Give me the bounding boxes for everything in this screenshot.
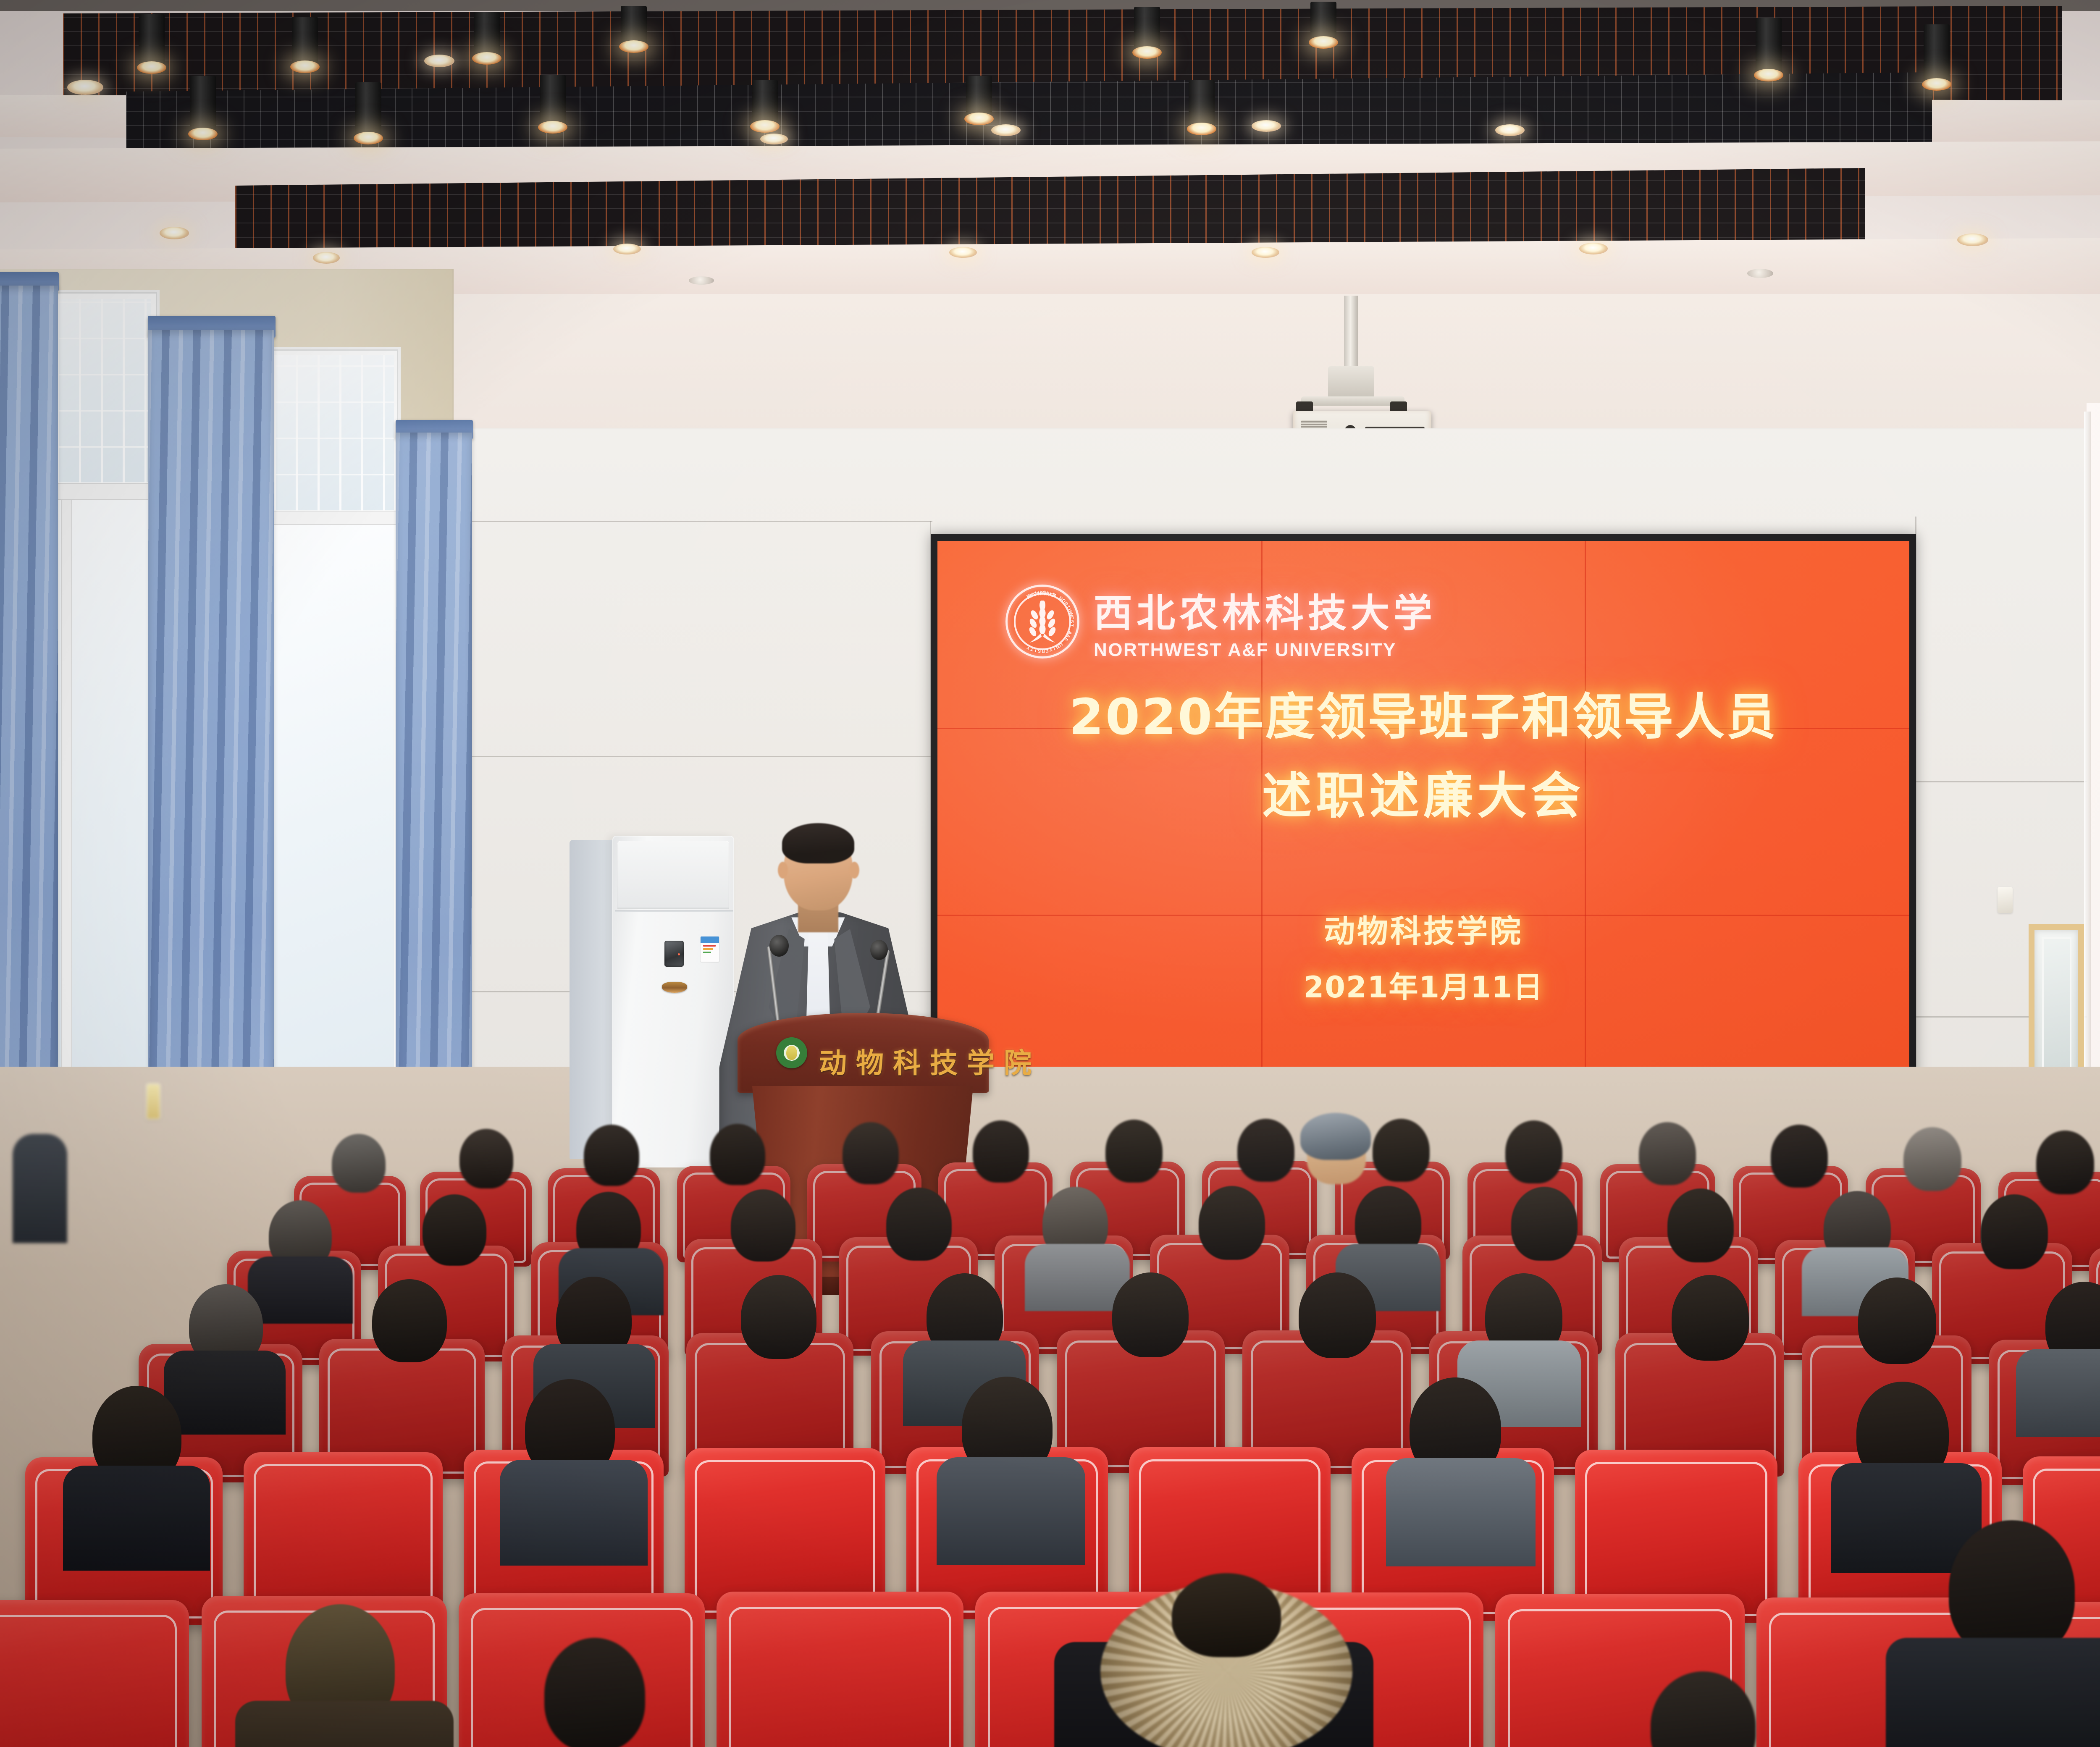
pendant-light	[1924, 24, 1950, 84]
audience-head	[1672, 1275, 1749, 1361]
audience-head	[1505, 1120, 1562, 1183]
microphone-head	[870, 940, 888, 960]
energy-rating-label	[701, 936, 719, 962]
audience-head	[886, 1188, 952, 1261]
air-conditioner-display	[664, 941, 684, 967]
university-name-en: NORTHWEST A&F UNIVERSITY	[1094, 640, 1436, 661]
audience-head	[731, 1189, 795, 1262]
wall-niche-inner	[2042, 937, 2071, 1087]
slide-title-line1: 2020年度领导班子和领导人员	[937, 687, 1909, 748]
audience-head	[1771, 1125, 1828, 1188]
foreground-person-torso	[235, 1701, 454, 1747]
speaker-hair	[782, 823, 854, 863]
window-mullion	[62, 500, 71, 1113]
pendant-light	[355, 82, 381, 138]
audience-head	[1199, 1186, 1265, 1260]
audience-head	[741, 1275, 816, 1359]
pendant-light	[139, 14, 165, 67]
audience-head	[1981, 1194, 2048, 1269]
window-curtain	[148, 330, 274, 1187]
audience-head	[372, 1279, 447, 1362]
recessed-downlight	[160, 227, 189, 239]
audience-torso	[164, 1351, 286, 1435]
audience-head	[332, 1134, 386, 1193]
audience-head	[710, 1124, 765, 1185]
audience-torso	[2016, 1349, 2100, 1437]
pendant-light	[190, 76, 216, 134]
audience-torso	[248, 1256, 353, 1324]
audience-torso	[13, 1134, 67, 1243]
air-conditioner-indicator-led	[678, 953, 680, 955]
audience-torso	[63, 1466, 210, 1571]
audience-head	[459, 1129, 513, 1188]
audience-head	[584, 1125, 639, 1186]
audience-head	[423, 1194, 486, 1266]
audience-head	[1903, 1127, 1961, 1191]
recessed-downlight	[1495, 124, 1525, 136]
microphone-head	[769, 935, 789, 957]
recessed-downlight	[424, 55, 454, 67]
recessed-downlight	[1579, 243, 1608, 254]
audience-head	[1373, 1119, 1430, 1182]
audience-torso	[1386, 1458, 1536, 1566]
recessed-downlight	[1252, 120, 1281, 132]
air-conditioner-upper-grille	[617, 841, 729, 909]
air-conditioner-trim-line	[615, 910, 733, 912]
pendant-light	[966, 76, 992, 118]
foreground-person-head	[544, 1638, 645, 1747]
seat[interactable]	[0, 1600, 189, 1747]
projector-mount-arm	[1301, 396, 1404, 406]
audience-head	[1639, 1122, 1696, 1185]
audience-head	[1112, 1272, 1189, 1357]
pendant-light	[1189, 80, 1215, 129]
audience-head	[1105, 1120, 1163, 1183]
speaker-ear	[778, 862, 788, 879]
recessed-downlight	[313, 252, 340, 264]
foreground-person-head	[1172, 1573, 1281, 1657]
audience-head	[2036, 1131, 2094, 1194]
bottle-on-sill	[146, 1083, 160, 1120]
audience-head	[843, 1122, 899, 1184]
audience-head	[1237, 1119, 1294, 1182]
pendant-light	[1756, 18, 1782, 75]
pendant-light	[621, 6, 647, 46]
audience-head	[1511, 1187, 1578, 1261]
podium-college-logo	[776, 1037, 807, 1068]
window-glass	[274, 525, 394, 1113]
sprinkler-head	[689, 276, 714, 285]
seat[interactable]	[717, 1592, 963, 1747]
university-name-cn: 西北农林科技大学	[1094, 582, 1436, 638]
audience-torso	[937, 1457, 1085, 1565]
pendant-light	[752, 80, 778, 126]
slide-subtitle-date: 2021年1月11日	[937, 968, 1909, 1007]
wall-panel-seam	[445, 756, 932, 757]
pendant-light	[540, 75, 566, 127]
projector-mount-bracket	[1328, 366, 1374, 399]
window-curtain	[396, 433, 472, 1172]
recessed-downlight	[991, 124, 1021, 136]
wall-control-panel[interactable]	[1998, 887, 2013, 913]
recessed-downlight	[949, 247, 977, 258]
pendant-light	[1134, 7, 1160, 52]
speaker-ear	[849, 862, 859, 879]
slide-subtitle-block: 动物科技学院 2021年1月11日	[937, 911, 1909, 1007]
pendant-light	[1310, 2, 1336, 42]
baseball-cap	[1300, 1113, 1371, 1160]
recessed-downlight	[613, 244, 641, 254]
slide-title-block: 2020年度领导班子和领导人员 述职述廉大会	[937, 687, 1909, 826]
wall-panel-seam	[445, 521, 932, 522]
wheat-emblem-icon	[1022, 601, 1063, 644]
audience-head	[1667, 1188, 1734, 1262]
recessed-downlight	[1957, 233, 1988, 246]
projector-mount-rod	[1344, 296, 1358, 374]
podium-college-name: 动物科技学院	[819, 1041, 1041, 1081]
pendant-light	[292, 17, 318, 66]
recessed-downlight	[760, 134, 788, 144]
window-security-grille	[274, 355, 394, 512]
foreground-person-torso	[1886, 1638, 2100, 1747]
audience-head	[973, 1120, 1029, 1183]
audience-torso	[500, 1460, 648, 1566]
conference-hall-photo: 西北农林科技大学 NORTHWEST A&F UNIVERSITY	[0, 0, 2100, 1747]
university-name-block: 西北农林科技大学 NORTHWEST A&F UNIVERSITY	[1094, 582, 1436, 661]
window-curtain	[0, 286, 58, 1167]
university-seal-logo: 西北农林科技大学 NORTHWEST A&F UNIVERSITY	[1005, 585, 1079, 658]
slide-title-line2: 述职述廉大会	[937, 766, 1909, 826]
wall-panel-seam	[1915, 781, 2092, 782]
audience-head	[1858, 1277, 1936, 1364]
recessed-downlight	[67, 80, 103, 95]
window-mullion	[267, 512, 401, 524]
university-branding-row: 西北农林科技大学 NORTHWEST A&F UNIVERSITY	[1005, 582, 1436, 661]
pendant-light	[474, 12, 500, 58]
sprinkler-head	[1747, 269, 1773, 278]
audience-head	[1299, 1272, 1376, 1358]
recessed-downlight	[1252, 247, 1279, 258]
slide-subtitle-org: 动物科技学院	[937, 911, 1909, 952]
air-conditioner-brand-badge	[662, 982, 687, 993]
